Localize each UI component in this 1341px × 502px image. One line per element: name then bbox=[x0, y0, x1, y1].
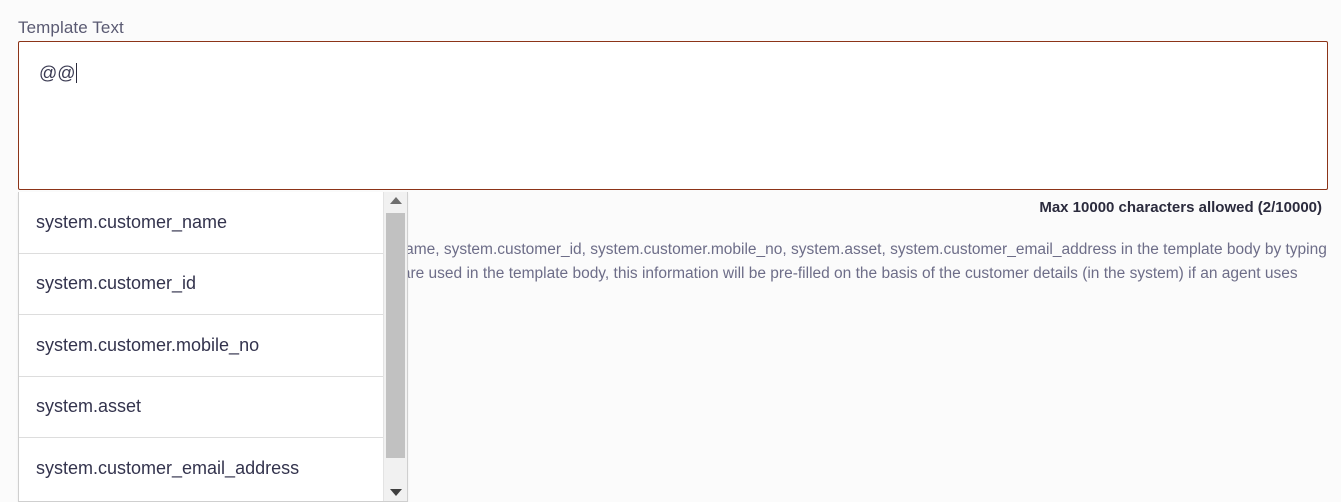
dropdown-item-label: system.customer_email_address bbox=[36, 458, 299, 479]
list-item[interactable]: system.customer_id bbox=[19, 254, 383, 316]
list-item[interactable]: system.customer_email_address bbox=[19, 438, 383, 500]
dropdown-item-list: system.customer_name system.customer_id … bbox=[19, 192, 383, 501]
triangle-up-icon bbox=[390, 197, 402, 204]
scroll-up-arrow-icon[interactable] bbox=[384, 192, 407, 209]
template-text-label: Template Text bbox=[18, 17, 124, 39]
list-item[interactable]: system.asset bbox=[19, 377, 383, 439]
template-text-form: Template Text @@ Max 10000 characters al… bbox=[0, 0, 1341, 502]
triangle-down-icon bbox=[390, 489, 402, 496]
list-item[interactable]: system.customer_name bbox=[19, 192, 383, 254]
dropdown-item-label: system.asset bbox=[36, 396, 141, 417]
template-text-content: @@ bbox=[39, 63, 76, 83]
template-text-value: @@ bbox=[39, 62, 77, 84]
list-item[interactable]: system.customer.mobile_no bbox=[19, 315, 383, 377]
scrollbar-thumb[interactable] bbox=[386, 213, 405, 458]
text-cursor bbox=[76, 63, 77, 83]
dropdown-scrollbar[interactable] bbox=[383, 192, 407, 501]
dropdown-item-label: system.customer.mobile_no bbox=[36, 335, 259, 356]
dropdown-item-label: system.customer_name bbox=[36, 212, 227, 233]
parameter-autocomplete-dropdown[interactable]: system.customer_name system.customer_id … bbox=[18, 192, 408, 502]
dropdown-item-label: system.customer_id bbox=[36, 273, 196, 294]
character-counter: Max 10000 characters allowed (2/10000) bbox=[1039, 198, 1322, 218]
template-text-input[interactable]: @@ bbox=[18, 41, 1328, 190]
scroll-down-arrow-icon[interactable] bbox=[384, 484, 407, 501]
